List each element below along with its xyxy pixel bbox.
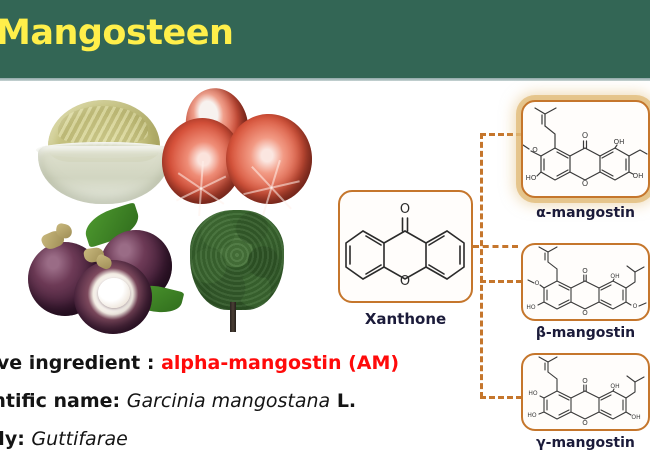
svg-text:HO: HO — [527, 412, 537, 419]
svg-text:HO: HO — [526, 304, 536, 311]
svg-text:OH: OH — [614, 138, 625, 146]
svg-text:O: O — [532, 146, 538, 154]
gamma-mangostin-structure[interactable]: O O HO HO OH — [521, 353, 650, 431]
purple-mangosteen-fruit-image — [22, 208, 182, 334]
svg-text:OH: OH — [631, 414, 640, 421]
alpha-mangostin-caption: α-mangostin — [521, 205, 650, 221]
active-ingredient-label: ctive ingredient : — [0, 352, 161, 374]
svg-text:HO: HO — [528, 390, 538, 397]
svg-text:O: O — [582, 179, 588, 188]
connector-trunk — [480, 133, 483, 398]
glass-bowl — [38, 146, 170, 204]
scientific-name-label: ientific name: — [0, 390, 127, 412]
svg-text:OH: OH — [610, 383, 619, 390]
opened-purple-fruit — [74, 260, 152, 334]
photo-collage — [12, 88, 322, 336]
connector-to-alpha — [480, 133, 522, 136]
svg-text:O: O — [582, 131, 588, 140]
scientific-name-line: ientific name: Garcinia mangostana L. — [0, 390, 356, 412]
mangosteen-powder-bowl-image — [34, 96, 174, 206]
connector-to-gamma — [480, 396, 522, 399]
svg-text:O: O — [400, 274, 410, 289]
slide-header: Mangosteen — [0, 0, 650, 78]
svg-text:O: O — [582, 419, 588, 427]
header-divider — [0, 78, 650, 81]
svg-text:O: O — [582, 309, 588, 317]
alpha-mangostin-structure[interactable]: O O O HO — [521, 100, 650, 198]
mangosteen-tree-image — [182, 210, 292, 336]
tree-crown — [190, 210, 284, 310]
opened-red-fruit-image — [162, 88, 312, 206]
svg-text:O: O — [633, 303, 638, 310]
svg-text:O: O — [400, 202, 410, 217]
svg-text:O: O — [582, 267, 588, 275]
xanthone-caption: Xanthone — [338, 310, 473, 328]
svg-text:HO: HO — [526, 174, 537, 182]
xanthone-derivatives-diagram: O O — [330, 85, 650, 450]
family-value: Guttifarae — [31, 428, 127, 450]
svg-text:O: O — [582, 377, 588, 385]
slide: Mangosteen — [0, 0, 650, 450]
beta-mangostin-structure[interactable]: O O O HO OH — [521, 243, 650, 321]
family-label: mily: — [0, 428, 31, 450]
page-title: Mangosteen — [0, 13, 233, 53]
family-line: mily: Guttifarae — [0, 428, 128, 450]
connector-to-beta — [480, 280, 522, 283]
svg-text:OH: OH — [633, 172, 644, 180]
scientific-name-value: Garcinia mangostana — [127, 390, 330, 412]
gamma-mangostin-caption: γ-mangostin — [521, 435, 650, 450]
svg-text:OH: OH — [610, 273, 619, 280]
xanthone-structure[interactable]: O O — [338, 190, 473, 303]
beta-mangostin-caption: β-mangostin — [521, 325, 650, 341]
svg-text:O: O — [535, 280, 540, 287]
tree-trunk — [230, 302, 236, 332]
